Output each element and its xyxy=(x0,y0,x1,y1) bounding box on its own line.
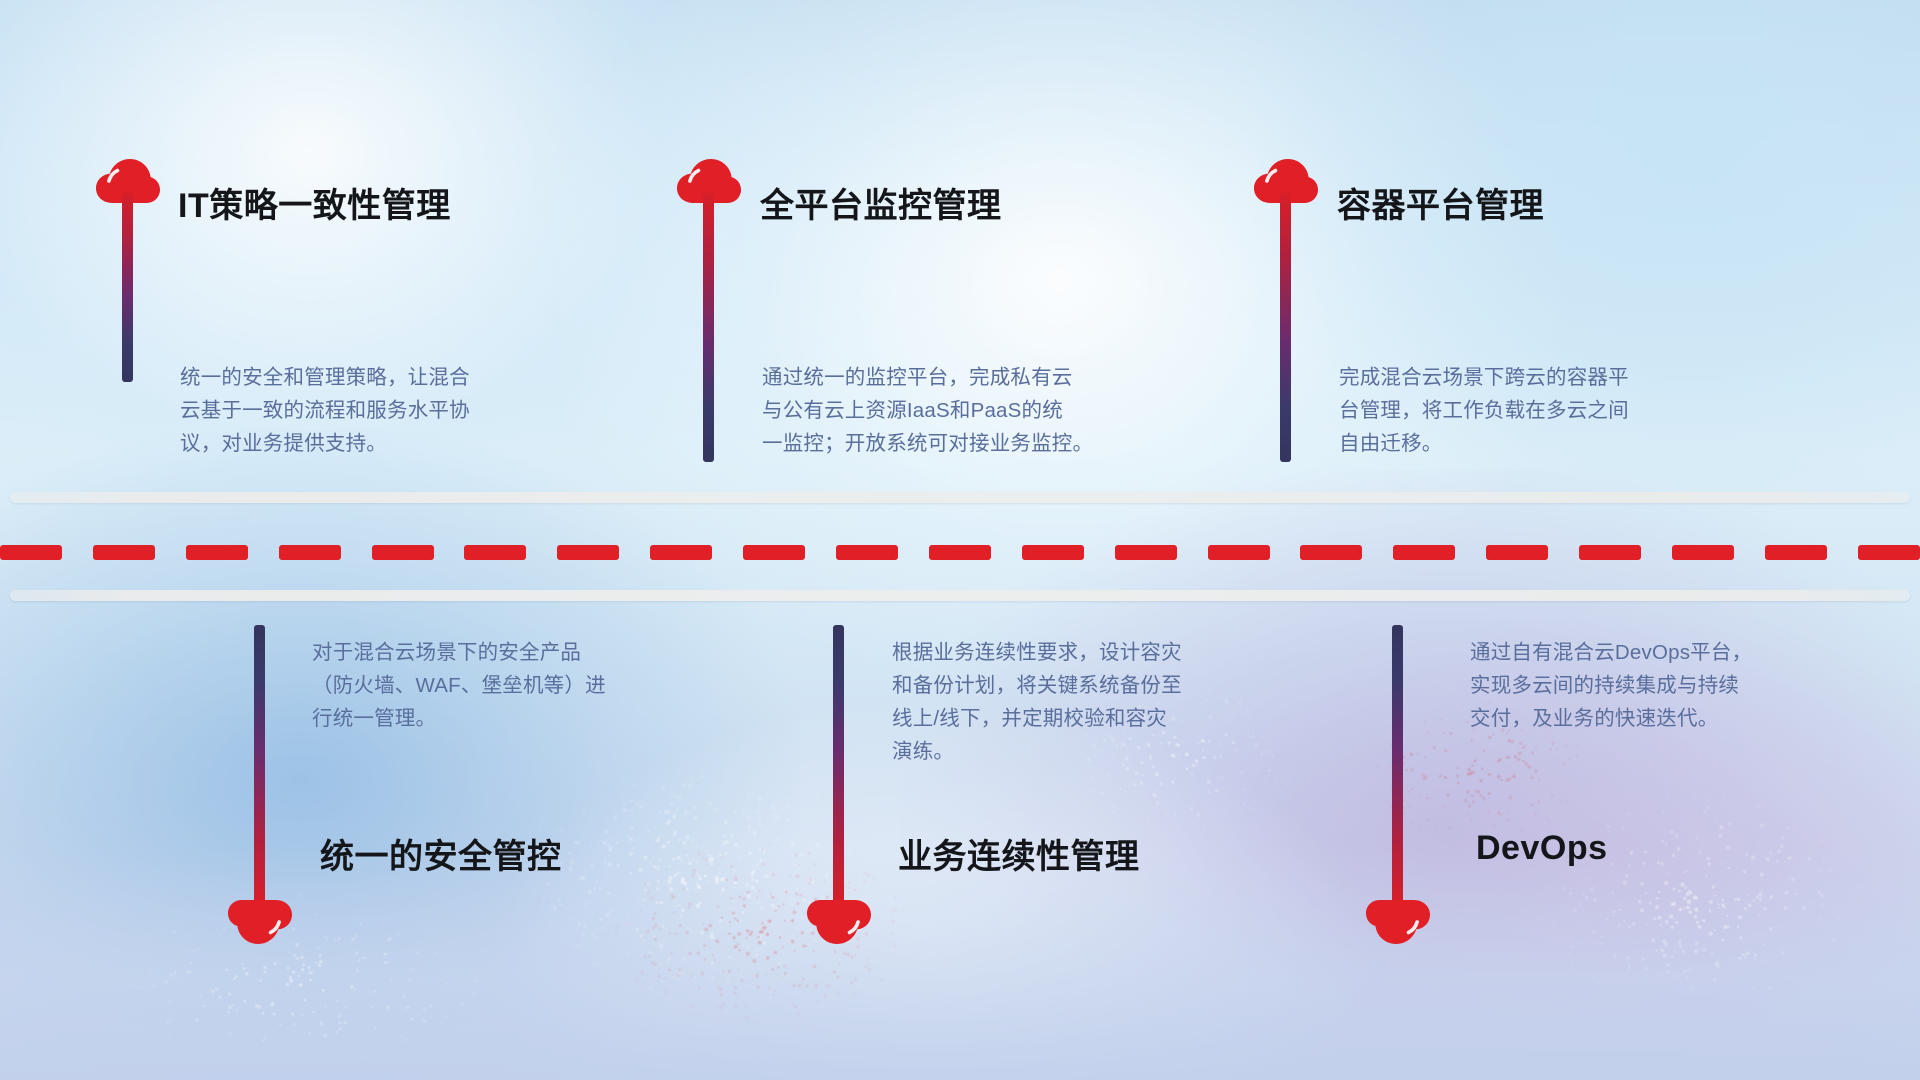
card-description: 对于混合云场景下的安全产品 （防火墙、WAF、堡垒机等）进 行统一管理。 xyxy=(312,636,606,735)
desc-line: 与公有云上资源IaaS和PaaS的统 xyxy=(762,394,1093,427)
road-dash-segment xyxy=(372,545,434,560)
desc-line: 对于混合云场景下的安全产品 xyxy=(312,636,606,669)
road-dash-segment xyxy=(1208,545,1270,560)
road-line-top xyxy=(10,492,1910,503)
card-title: 全平台监控管理 xyxy=(760,178,1002,227)
road-dash-segment xyxy=(186,545,248,560)
card-description: 完成混合云场景下跨云的容器平 台管理，将工作负载在多云之间 自由迁移。 xyxy=(1339,361,1629,460)
card-description: 通过统一的监控平台，完成私有云 与公有云上资源IaaS和PaaS的统 一监控；开… xyxy=(762,361,1093,460)
card-title: DevOps xyxy=(1476,829,1608,868)
road-dash-segment xyxy=(1393,545,1455,560)
desc-line: 一监控；开放系统可对接业务监控。 xyxy=(762,427,1093,460)
road-dash-segment xyxy=(1115,545,1177,560)
road-dash-segment xyxy=(836,545,898,560)
pin-stem xyxy=(254,625,265,905)
desc-line: 交付，及业务的快速迭代。 xyxy=(1470,702,1752,735)
desc-line: 演练。 xyxy=(892,735,1182,768)
road-dash-segment xyxy=(743,545,805,560)
card-title: 统一的安全管控 xyxy=(320,829,562,878)
card-description: 统一的安全和管理策略，让混合 云基于一致的流程和服务水平协 议，对业务提供支持。 xyxy=(180,361,470,460)
road-dashed-centerline xyxy=(0,545,1920,560)
desc-line: 和备份计划，将关键系统备份至 xyxy=(892,669,1182,702)
card-title: 容器平台管理 xyxy=(1337,178,1544,227)
desc-line: 自由迁移。 xyxy=(1339,427,1629,460)
desc-line: 线上/线下，并定期校验和容灾 xyxy=(892,702,1182,735)
desc-line: 议，对业务提供支持。 xyxy=(180,427,470,460)
pin-stem xyxy=(122,192,133,382)
card-description: 根据业务连续性要求，设计容灾 和备份计划，将关键系统备份至 线上/线下，并定期校… xyxy=(892,636,1182,768)
cloud-icon xyxy=(227,897,293,945)
road-dash-segment xyxy=(1858,545,1920,560)
card-description: 通过自有混合云DevOps平台， 实现多云间的持续集成与持续 交付，及业务的快速… xyxy=(1470,636,1752,735)
road-dash-segment xyxy=(0,545,62,560)
road-line-bottom xyxy=(10,590,1910,601)
pin-stem xyxy=(703,192,714,462)
cloud-icon xyxy=(806,897,872,945)
road-dash-segment xyxy=(929,545,991,560)
desc-line: 实现多云间的持续集成与持续 xyxy=(1470,669,1752,702)
desc-line: 台管理，将工作负载在多云之间 xyxy=(1339,394,1629,427)
road-dash-segment xyxy=(650,545,712,560)
desc-line: 通过自有混合云DevOps平台， xyxy=(1470,636,1752,669)
desc-line: 行统一管理。 xyxy=(312,702,606,735)
desc-line: 云基于一致的流程和服务水平协 xyxy=(180,394,470,427)
desc-line: 通过统一的监控平台，完成私有云 xyxy=(762,361,1093,394)
infographic-stage: IT策略一致性管理 统一的安全和管理策略，让混合 云基于一致的流程和服务水平协 … xyxy=(0,0,1920,1080)
desc-line: 根据业务连续性要求，设计容灾 xyxy=(892,636,1182,669)
pin-stem xyxy=(833,625,844,905)
road-dash-segment xyxy=(1022,545,1084,560)
road-dash-segment xyxy=(1300,545,1362,560)
desc-line: 统一的安全和管理策略，让混合 xyxy=(180,361,470,394)
road-dash-segment xyxy=(279,545,341,560)
road-dash-segment xyxy=(1486,545,1548,560)
road-dash-segment xyxy=(1579,545,1641,560)
road-dash-segment xyxy=(93,545,155,560)
road-dash-segment xyxy=(464,545,526,560)
card-title: 业务连续性管理 xyxy=(898,829,1140,878)
card-title: IT策略一致性管理 xyxy=(178,178,451,227)
desc-line: 完成混合云场景下跨云的容器平 xyxy=(1339,361,1629,394)
desc-line: （防火墙、WAF、堡垒机等）进 xyxy=(312,669,606,702)
pin-stem xyxy=(1280,192,1291,462)
pin-stem xyxy=(1392,625,1403,905)
cloud-icon xyxy=(1365,897,1431,945)
background-bottom-fade xyxy=(0,850,1920,1080)
road-dash-segment xyxy=(1672,545,1734,560)
road-dash-segment xyxy=(557,545,619,560)
road-dash-segment xyxy=(1765,545,1827,560)
